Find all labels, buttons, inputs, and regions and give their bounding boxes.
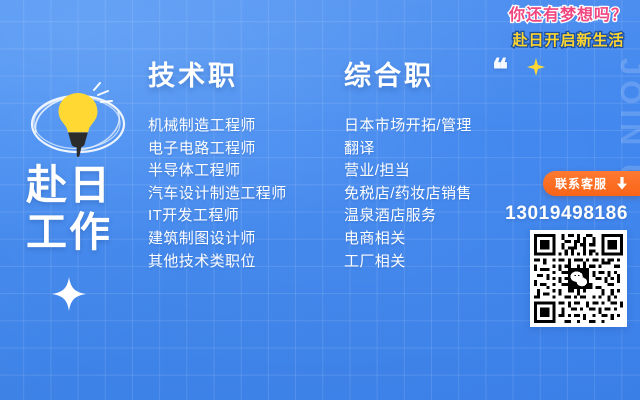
list-item: 翻译 xyxy=(344,138,472,161)
list-item: 半导体工程师 xyxy=(148,160,287,183)
job-list-technical: 机械制造工程师 电子电路工程师 半导体工程师 汽车设计制造工程师 IT开发工程师… xyxy=(148,115,287,273)
page-title: 赴日 工作 xyxy=(26,162,112,256)
column-heading-general: 综合职 xyxy=(344,60,472,92)
arrow-down-icon xyxy=(616,177,628,190)
list-item: 日本市场开拓/管理 xyxy=(344,115,472,138)
contact-service-button[interactable]: 联系客服 xyxy=(543,171,640,196)
column-heading-technical: 技术职 xyxy=(148,60,287,92)
sparkle-star-small-icon xyxy=(527,58,545,76)
poster-canvas: JOIN U 你还有梦想吗？ 赴日开启新生活 ❝ xyxy=(0,0,640,400)
phone-number[interactable]: 13019498186 xyxy=(505,203,628,225)
list-item: 机械制造工程师 xyxy=(148,115,287,138)
list-item: 营业/担当 xyxy=(344,160,472,183)
sparkle-star-icon xyxy=(52,277,86,311)
lightbulb-illustration xyxy=(22,82,134,162)
list-item: 建筑制图设计师 xyxy=(148,228,287,251)
job-column-technical: 技术职 机械制造工程师 电子电路工程师 半导体工程师 汽车设计制造工程师 IT开… xyxy=(148,60,287,273)
list-item: 工厂相关 xyxy=(344,251,472,274)
slogan-line-1: 你还有梦想吗？ xyxy=(509,6,628,26)
list-item: 温泉酒店服务 xyxy=(344,205,472,228)
job-list-general: 日本市场开拓/管理 翻译 营业/担当 免税店/药妆店销售 温泉酒店服务 电商相关… xyxy=(344,115,472,273)
wechat-qr-code[interactable] xyxy=(530,230,627,327)
slogan-block: 你还有梦想吗？ 赴日开启新生活 xyxy=(509,6,628,50)
page-title-line-2: 工作 xyxy=(26,209,112,256)
list-item: 电子电路工程师 xyxy=(148,138,287,161)
page-title-line-1: 赴日 xyxy=(26,162,112,209)
list-item: 电商相关 xyxy=(344,228,472,251)
slogan-line-2: 赴日开启新生活 xyxy=(509,31,628,50)
list-item: 汽车设计制造工程师 xyxy=(148,183,287,206)
list-item: 免税店/药妆店销售 xyxy=(344,183,472,206)
contact-service-label: 联系客服 xyxy=(555,175,607,192)
list-item: IT开发工程师 xyxy=(148,205,287,228)
list-item: 其他技术类职位 xyxy=(148,251,287,274)
job-column-general: 综合职 日本市场开拓/管理 翻译 营业/担当 免税店/药妆店销售 温泉酒店服务 … xyxy=(344,60,472,273)
quote-mark-icon: ❝ xyxy=(492,56,508,86)
